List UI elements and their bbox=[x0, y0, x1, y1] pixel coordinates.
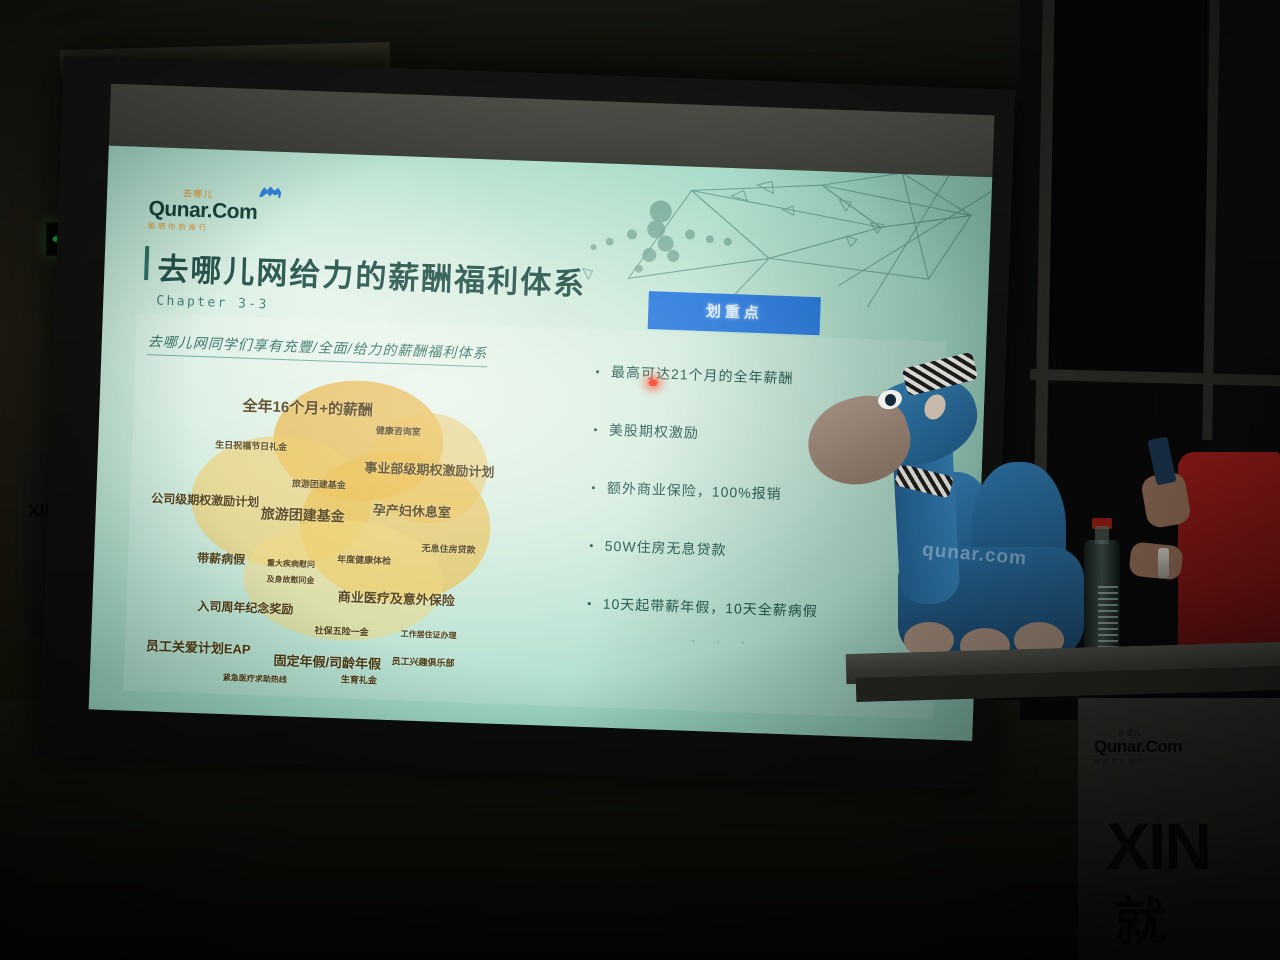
word-cloud-item: 员工兴趣俱乐部 bbox=[391, 654, 454, 669]
highlight-header-label: 划重点 bbox=[648, 291, 821, 335]
word-cloud-item: 社保五险一金 bbox=[314, 623, 368, 638]
slide-title: 去哪儿网给力的薪酬福利体系 bbox=[157, 243, 587, 303]
word-cloud-item: 固定年假/司龄年假 bbox=[273, 650, 381, 673]
word-cloud-item: 生日祝福节日礼金 bbox=[215, 438, 287, 454]
word-cloud-item: 全年16个月+的薪酬 bbox=[242, 395, 373, 421]
word-cloud-item: 入司周年纪念奖励 bbox=[197, 597, 294, 617]
word-cloud-item: 健康咨询室 bbox=[376, 423, 421, 438]
word-cloud-item: 带薪病假 bbox=[197, 549, 246, 568]
word-cloud-item: 重大疾病慰问 bbox=[267, 558, 315, 571]
word-cloud-item: 公司级期权激励计划 bbox=[151, 489, 260, 510]
qunar-logo: 去哪儿 Qunar.Com 聪明你的旅行 bbox=[148, 185, 280, 236]
word-cloud-item: 旅游团建基金 bbox=[260, 503, 345, 526]
word-cloud-item: 及身故慰问金 bbox=[266, 574, 314, 587]
word-cloud-item: 旅游团建基金 bbox=[292, 476, 346, 491]
word-cloud-item: 员工关爱计划EAP bbox=[146, 635, 251, 658]
benefits-word-cloud: 全年16个月+的薪酬健康咨询室生日祝福节日礼金事业部级期权激励计划旅游团建基金公… bbox=[145, 373, 575, 688]
word-cloud-item: 工作居住证办理 bbox=[400, 628, 456, 641]
word-cloud-item: 孕产妇休息室 bbox=[373, 499, 452, 521]
podium-banner: 去哪儿 Qunar.Com 聪明你的旅行 XIN 就 bbox=[1078, 698, 1280, 960]
camel-pupil bbox=[885, 394, 896, 406]
slide-title-block: 去哪儿网给力的薪酬福利体系 Chapter 3-3 bbox=[143, 243, 587, 324]
water-bottle bbox=[1084, 518, 1120, 660]
more-items-dots: · · · bbox=[691, 635, 753, 649]
title-accent-bar bbox=[144, 246, 149, 280]
camel-icon bbox=[257, 183, 284, 205]
podium-shadow bbox=[1078, 698, 1280, 960]
highlight-header-box: 划重点 bbox=[648, 291, 821, 335]
camel-silhouette-icon bbox=[257, 183, 284, 200]
qunar-camel-plush: qunar.com bbox=[800, 332, 1100, 662]
word-cloud-item: 无息住房贷款 bbox=[421, 541, 475, 556]
room-scene: XIN 就业 指南 bbox=[0, 0, 1280, 960]
word-cloud-item: 紧急医疗求助热线 bbox=[223, 672, 287, 685]
window-pane-upper bbox=[1049, 0, 1207, 372]
qunar-logo-tagline: 聪明你的旅行 bbox=[148, 221, 278, 236]
person-hand-lower bbox=[1128, 541, 1183, 580]
word-cloud-item: 生育礼金 bbox=[341, 672, 377, 686]
wrist-watch bbox=[1158, 548, 1169, 578]
word-cloud-item: 年度健康体检 bbox=[337, 552, 391, 567]
